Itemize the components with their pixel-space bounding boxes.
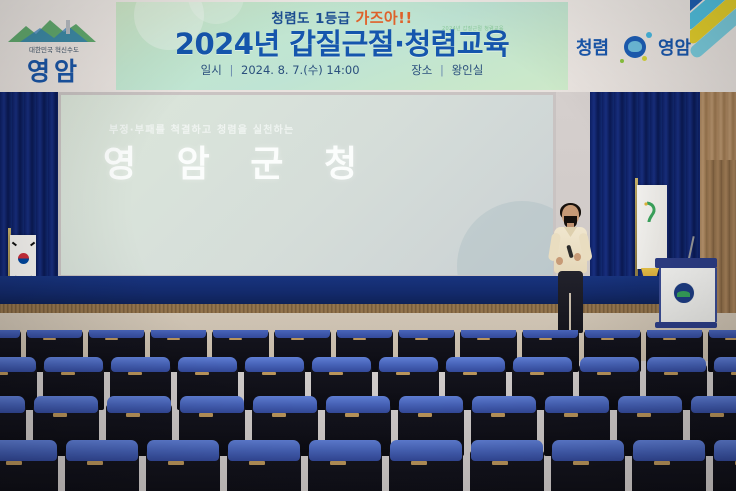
seat-number-plate	[61, 372, 74, 375]
seat-number-plate	[664, 372, 677, 375]
seat-headrest	[0, 357, 36, 373]
auditorium-seat	[389, 450, 463, 491]
speaker-leg-gap	[569, 293, 571, 333]
seat-number-plate	[199, 413, 214, 417]
seat-headrest	[390, 440, 461, 460]
integrity-spark-green	[620, 59, 624, 63]
seat-headrest	[151, 330, 206, 338]
seat-number-plate	[0, 372, 8, 375]
seat-number-plate	[411, 461, 427, 465]
podium-base	[655, 322, 717, 328]
integrity-logo: 청렴 영암	[576, 30, 702, 70]
seat-number-plate	[330, 461, 346, 465]
seat-number-plate	[597, 372, 610, 375]
seat-headrest	[275, 330, 330, 338]
seat-headrest	[379, 357, 438, 373]
county-brand-mark: 대한민국 혁신수도 영암	[2, 4, 106, 88]
auditorium-seat	[227, 450, 301, 491]
seat-headrest	[647, 330, 702, 338]
banner-date: 일시 | 2024. 8. 7.(수) 14:00	[201, 63, 364, 77]
seat-number-plate	[637, 413, 652, 417]
seat-number-plate	[329, 372, 342, 375]
seat-headrest	[709, 330, 736, 338]
county-flag-logo-icon	[643, 201, 659, 223]
seat-headrest	[691, 396, 736, 414]
seat-number-plate	[710, 413, 725, 417]
seat-headrest	[309, 440, 380, 460]
seat-headrest	[0, 396, 25, 414]
seat-headrest	[228, 440, 299, 460]
banner-date-label: 일시	[201, 63, 222, 77]
seat-headrest	[399, 396, 462, 414]
auditorium-seat	[65, 450, 139, 491]
auditorium-seat	[308, 450, 382, 491]
seat-headrest	[714, 440, 736, 460]
banner-place-separator: |	[440, 63, 444, 77]
seat-headrest	[245, 357, 304, 373]
seat-headrest	[585, 330, 640, 338]
banner-date-separator: |	[230, 63, 234, 77]
seat-number-plate	[195, 372, 208, 375]
auditorium-seat	[632, 450, 706, 491]
seat-headrest	[446, 357, 505, 373]
seat-headrest	[580, 357, 639, 373]
seat-headrest	[647, 357, 706, 373]
seat-headrest	[107, 396, 170, 414]
integrity-word-right: 영암	[658, 34, 691, 60]
seat-headrest	[66, 440, 137, 460]
stage-skirt	[0, 276, 706, 304]
podium-top	[655, 258, 717, 268]
seat-headrest	[253, 396, 316, 414]
seat-headrest	[180, 396, 243, 414]
seat-number-plate	[654, 461, 670, 465]
event-banner: 청렴도 1등급 가즈아!! 2024년 갑질근절 청렴교육 2024년 갑질근절…	[116, 2, 568, 90]
seat-headrest	[552, 440, 623, 460]
seat-headrest	[326, 396, 389, 414]
seat-number-plate	[418, 413, 433, 417]
seat-headrest	[147, 440, 218, 460]
banner-title: 2024년 갑질근절·청렴교육	[116, 21, 568, 63]
auditorium-seat	[470, 450, 544, 491]
taegukgi-circle	[18, 253, 29, 264]
speaker-person	[548, 205, 594, 341]
seat-headrest	[523, 330, 578, 338]
seat-headrest	[714, 357, 736, 373]
seat-headrest	[312, 357, 371, 373]
seat-headrest	[178, 357, 237, 373]
seat-number-plate	[731, 372, 736, 375]
seat-headrest	[27, 330, 82, 338]
stage-front-trim	[0, 304, 706, 313]
seat-headrest	[461, 330, 516, 338]
seat-headrest	[513, 357, 572, 373]
seat-number-plate	[573, 461, 589, 465]
seat-number-plate	[262, 372, 275, 375]
banner-meta: 일시 | 2024. 8. 7.(수) 14:00 장소 | 왕인실	[116, 62, 568, 78]
seat-headrest	[44, 357, 103, 373]
county-name: 영암	[2, 52, 106, 88]
seat-headrest	[0, 330, 20, 338]
yeongam-county-emblem	[673, 282, 695, 304]
seat-headrest	[399, 330, 454, 338]
seat-number-plate	[6, 461, 22, 465]
seat-headrest	[111, 357, 170, 373]
seat-number-plate	[272, 413, 287, 417]
brand-divider	[66, 20, 70, 34]
seat-headrest	[337, 330, 392, 338]
seat-headrest	[618, 396, 681, 414]
screen-title: 영 암 군 청	[103, 135, 371, 187]
screen-circle-decor	[457, 201, 553, 275]
auditorium-photo: 부정·부패를 척결하고 청렴을 실천하는 영 암 군 청 대한민국 혁신수도 영…	[0, 0, 736, 491]
seat-headrest	[213, 330, 268, 338]
seat-headrest	[34, 396, 97, 414]
banner-ribbon-decor	[690, 0, 736, 96]
seat-headrest	[89, 330, 144, 338]
banner-date-value: 2024. 8. 7.(수) 14:00	[241, 63, 360, 77]
taegukgi-trigram-1	[12, 242, 17, 246]
auditorium-seat	[713, 450, 736, 491]
yeongam-county-flag	[637, 185, 667, 269]
auditorium-seat	[146, 450, 220, 491]
seat-number-plate	[491, 413, 506, 417]
screen-subtitle: 부정·부패를 척결하고 청렴을 실천하는	[109, 121, 294, 136]
seat-headrest	[545, 396, 608, 414]
banner-place-label: 장소	[411, 63, 432, 77]
mountain-icon	[6, 18, 98, 44]
integrity-spark-blue	[646, 32, 652, 38]
banner-place: 장소 | 왕인실	[411, 63, 483, 77]
seat-number-plate	[564, 413, 579, 417]
seat-number-plate	[345, 413, 360, 417]
seat-headrest	[633, 440, 704, 460]
seat-number-plate	[530, 372, 543, 375]
integrity-word-left: 청렴	[576, 34, 609, 60]
seat-number-plate	[126, 413, 141, 417]
seat-number-plate	[396, 372, 409, 375]
seat-headrest	[471, 440, 542, 460]
banner-place-value: 왕인실	[452, 63, 484, 77]
speaker-hand-left	[556, 257, 563, 265]
speaker-hand-right	[574, 253, 581, 261]
auditorium-seat	[551, 450, 625, 491]
audience-seating	[0, 330, 736, 491]
seat-headrest	[0, 440, 57, 460]
podium	[655, 258, 717, 330]
seat-headrest	[472, 396, 535, 414]
seat-number-plate	[492, 461, 508, 465]
integrity-spark-yellow	[642, 56, 647, 61]
taegukgi-trigram-2	[30, 242, 35, 246]
seat-number-plate	[87, 461, 103, 465]
seat-number-plate	[53, 413, 68, 417]
seat-number-plate	[168, 461, 184, 465]
auditorium-seat	[0, 450, 58, 491]
seat-number-plate	[249, 461, 265, 465]
seat-number-plate	[128, 372, 141, 375]
integrity-seal-icon	[624, 36, 646, 58]
seat-number-plate	[463, 372, 476, 375]
projection-screen: 부정·부패를 척결하고 청렴을 실천하는 영 암 군 청	[61, 95, 553, 275]
